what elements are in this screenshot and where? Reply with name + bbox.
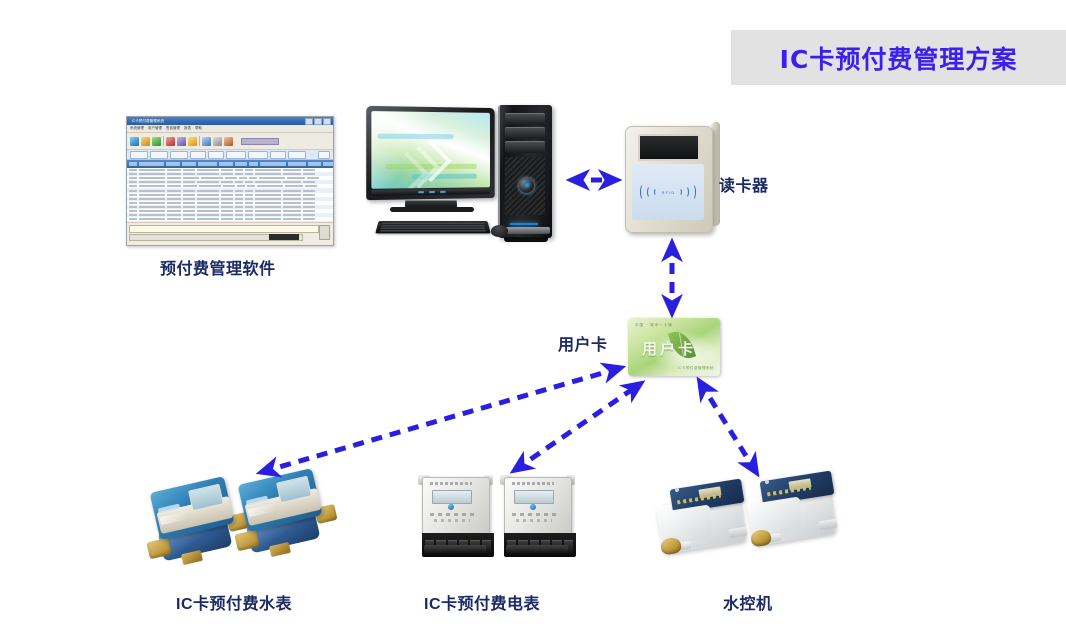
software-toolbar bbox=[127, 133, 333, 150]
card-face-text: 用户卡 bbox=[642, 338, 696, 359]
mouse[interactable] bbox=[491, 225, 508, 237]
filter-button-2[interactable] bbox=[170, 151, 188, 159]
status-action-button[interactable] bbox=[319, 225, 330, 240]
reader-display bbox=[638, 134, 700, 161]
label-water-controller: 水控机 bbox=[723, 590, 773, 614]
arrow-usercard-to-electric-meter bbox=[515, 384, 640, 470]
diagram-canvas: IC卡预付费管理方案 IC卡预付费管理系统 系统管理 用户管理 售费管理 报表 … bbox=[0, 0, 1066, 640]
tower-feet bbox=[504, 237, 548, 242]
arrow-usercard-to-water-meter bbox=[262, 368, 620, 472]
filter-button-1[interactable] bbox=[150, 151, 168, 159]
window-controls bbox=[305, 118, 333, 125]
software-titlebar: IC卡预付费管理系统 bbox=[127, 117, 333, 125]
monitor-screen bbox=[371, 111, 490, 189]
status-field-primary bbox=[129, 225, 319, 233]
water-controller-device bbox=[745, 476, 841, 556]
software-menubar: 系统管理 用户管理 售费管理 报表 帮助 bbox=[127, 125, 333, 133]
ic-prepaid-water-meter bbox=[238, 470, 334, 562]
ic-prepaid-water-meter bbox=[150, 478, 246, 570]
tower-led bbox=[510, 223, 538, 225]
toolbar-icon-6 bbox=[188, 137, 197, 146]
filter-button-9[interactable] bbox=[318, 151, 330, 159]
filter-button-7[interactable] bbox=[270, 151, 286, 159]
toolbar-icon-5 bbox=[177, 137, 186, 146]
computer-tower bbox=[498, 105, 552, 238]
toolbar-separator-2 bbox=[199, 136, 200, 146]
meter-button-icon[interactable] bbox=[448, 504, 454, 510]
water-controller-device bbox=[655, 484, 751, 564]
desktop-computer bbox=[365, 105, 580, 255]
title-banner: IC卡预付费管理方案 bbox=[731, 30, 1066, 85]
menu-item-0: 系统管理 bbox=[130, 126, 144, 131]
filter-button-4[interactable] bbox=[208, 151, 224, 159]
filter-button-8[interactable] bbox=[288, 151, 306, 159]
label-ic-prepaid-electric-meter: IC卡预付费电表 bbox=[424, 590, 540, 614]
meter-spec-text bbox=[512, 513, 556, 516]
toolbar-icon-3 bbox=[152, 137, 161, 146]
power-button-icon[interactable] bbox=[518, 177, 535, 194]
drive-bay bbox=[505, 113, 545, 125]
drive-bay bbox=[505, 127, 545, 139]
wallpaper-band bbox=[378, 134, 454, 140]
monitor-bezel-controls bbox=[371, 188, 490, 196]
drive-bay bbox=[505, 141, 545, 153]
filter-button-5[interactable] bbox=[226, 151, 246, 159]
toolbar-separator-1 bbox=[163, 136, 164, 146]
label-user-card: 用户卡 bbox=[558, 331, 608, 355]
toolbar-icon-1 bbox=[130, 137, 139, 146]
ic-prepaid-electric-meter bbox=[418, 473, 494, 561]
tower-base bbox=[502, 227, 550, 234]
menu-item-3: 报表 bbox=[184, 126, 191, 131]
toolbar-status-pill bbox=[241, 138, 279, 145]
terminal-cover bbox=[424, 545, 486, 553]
software-statusbar bbox=[127, 222, 333, 245]
filter-button-0[interactable] bbox=[130, 151, 148, 159]
label-ic-prepaid-water-meter: IC卡预付费水表 bbox=[176, 590, 292, 614]
page-title: IC卡预付费管理方案 bbox=[780, 40, 1018, 76]
meter-display bbox=[432, 490, 472, 504]
meter-case bbox=[422, 477, 490, 537]
toolbar-icon-8 bbox=[213, 137, 222, 146]
monitor-base bbox=[390, 207, 474, 212]
table-header-row bbox=[127, 160, 333, 168]
arrow-usercard-to-water-controller bbox=[700, 382, 756, 472]
meter-brand-text bbox=[512, 482, 554, 485]
meter-spec-text bbox=[430, 513, 474, 516]
rfid-wave-icon: R F I D bbox=[636, 183, 700, 201]
toolbar-icon-4 bbox=[166, 137, 175, 146]
meter-spec-text bbox=[516, 519, 552, 522]
meter-spec-text bbox=[434, 519, 470, 522]
ic-prepaid-electric-meter bbox=[500, 473, 576, 561]
meter-case bbox=[504, 477, 572, 537]
card-bottom-microtext: IC卡预付费管理系统 bbox=[678, 366, 715, 371]
monitor bbox=[366, 106, 494, 200]
status-highlight bbox=[269, 234, 299, 240]
label-card-reader: 读卡器 bbox=[719, 172, 769, 196]
toolbar-icon-9 bbox=[224, 137, 233, 146]
meter-display bbox=[514, 490, 554, 504]
meter-button-icon[interactable] bbox=[530, 504, 536, 510]
label-prepaid-software: 预付费管理软件 bbox=[160, 255, 276, 279]
card-top-microtext: 中国 · 城市一卡通 bbox=[635, 323, 673, 328]
card-reader-device: R F I D bbox=[625, 120, 717, 235]
keyboard[interactable] bbox=[375, 221, 491, 233]
filter-button-3[interactable] bbox=[190, 151, 206, 159]
menu-item-4: 帮助 bbox=[195, 126, 202, 131]
menu-item-1: 用户管理 bbox=[148, 126, 162, 131]
terminal-cover bbox=[506, 545, 568, 553]
toolbar-icon-7 bbox=[202, 137, 211, 146]
filter-button-6[interactable] bbox=[248, 151, 268, 159]
meter-brand-text bbox=[430, 482, 472, 485]
menu-item-2: 售费管理 bbox=[166, 126, 180, 131]
toolbar-icon-2 bbox=[141, 137, 150, 146]
prepaid-management-software-window: IC卡预付费管理系统 系统管理 用户管理 售费管理 报表 帮助 bbox=[126, 116, 334, 246]
software-window-title: IC卡预付费管理系统 bbox=[129, 118, 164, 123]
software-filter-bar bbox=[127, 150, 333, 160]
user-ic-card: 中国 · 城市一卡通 用户卡 IC卡预付费管理系统 bbox=[628, 318, 720, 376]
